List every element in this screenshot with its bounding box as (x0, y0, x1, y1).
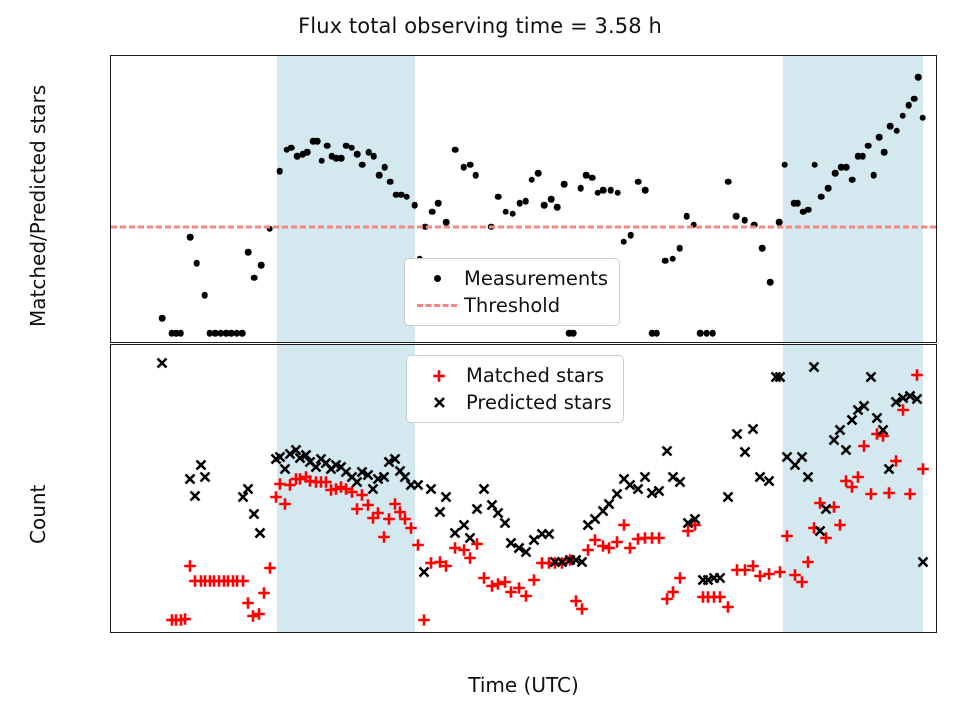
data-point-measurement (794, 200, 801, 207)
data-point-measurement (860, 153, 867, 160)
data-point-matched (903, 487, 917, 501)
data-point-matched (519, 589, 533, 603)
data-point-measurement (548, 196, 555, 203)
data-point-measurement (187, 234, 194, 241)
data-point-predicted (713, 571, 728, 586)
data-point-matched (575, 602, 589, 616)
data-point-measurement (825, 185, 832, 192)
data-point-predicted (773, 370, 788, 385)
data-point-predicted (376, 469, 391, 484)
data-point-predicted (812, 523, 827, 538)
data-point-measurement (915, 74, 922, 81)
data-point-matched (178, 612, 192, 626)
legend-marker-dashed-line (414, 304, 460, 307)
data-point-measurement (709, 330, 716, 337)
data-point-predicted (417, 565, 432, 580)
data-point-matched (773, 565, 787, 579)
data-point-matched (439, 559, 453, 573)
data-point-matched (377, 530, 391, 544)
legend-label: Predicted stars (462, 391, 612, 414)
data-point-measurement (159, 315, 166, 322)
data-point-matched (417, 613, 431, 627)
data-point-predicted (469, 502, 484, 517)
data-point-matched (404, 521, 418, 535)
data-point-predicted (745, 422, 760, 437)
data-point-measurement (554, 204, 561, 211)
legend-marker-cross (416, 395, 462, 410)
data-point-predicted (737, 445, 752, 460)
data-point-measurement (911, 95, 918, 102)
threshold-line (111, 225, 936, 228)
figure-canvas: Flux total observing time = 3.58 h 0.000… (0, 0, 960, 720)
data-point-measurement (620, 238, 627, 245)
data-point-measurement (509, 211, 516, 218)
data-point-measurement (767, 279, 774, 286)
data-point-measurement (535, 170, 542, 177)
chart-title: Flux total observing time = 3.58 h (0, 14, 960, 38)
data-point-measurement (314, 138, 321, 145)
data-point-measurement (733, 213, 740, 220)
data-point-matched (666, 585, 680, 599)
legend-label: Matched stars (462, 364, 604, 387)
legend-marker-dot (414, 275, 460, 282)
data-point-matched (263, 561, 277, 575)
data-point-measurement (781, 162, 788, 169)
legend-label: Threshold (460, 294, 560, 317)
data-point-measurement (201, 292, 208, 299)
legend-marker-plus (416, 369, 462, 383)
data-point-predicted (819, 502, 834, 517)
data-point-predicted (432, 505, 447, 520)
data-point-measurement (194, 260, 201, 267)
data-point-matched (236, 574, 250, 588)
data-point-measurement (338, 155, 345, 162)
data-point-measurement (653, 330, 660, 337)
data-point-measurement (865, 142, 872, 149)
data-point-matched (411, 538, 425, 552)
shaded-span-2 (783, 56, 922, 342)
data-point-predicted (672, 474, 687, 489)
data-point-predicted (909, 391, 924, 406)
data-point-measurement (725, 179, 732, 186)
data-point-measurement (742, 217, 749, 224)
data-point-measurement (251, 275, 258, 282)
data-point-matched (833, 518, 847, 532)
data-point-measurement (467, 162, 474, 169)
data-point-measurement (627, 232, 634, 239)
data-point-predicted (188, 489, 203, 504)
data-point-matched (183, 559, 197, 573)
data-point-measurement (376, 172, 383, 179)
data-point-predicted (247, 507, 262, 522)
data-point-predicted (182, 471, 197, 486)
data-point-predicted (463, 530, 478, 545)
data-point-predicted (720, 490, 735, 505)
data-point-predicted (730, 427, 745, 442)
data-point-measurement (676, 245, 683, 252)
data-point-measurement (473, 172, 480, 179)
data-point-measurement (670, 255, 677, 262)
count-legend: Matched starsPredicted stars (406, 355, 624, 423)
data-point-matched (851, 470, 865, 484)
data-point-measurement (600, 187, 607, 194)
legend-entry: Matched stars (416, 362, 612, 389)
data-point-measurement (614, 189, 621, 196)
data-point-matched (795, 575, 809, 589)
data-point-measurement (876, 134, 883, 141)
data-point-measurement (239, 330, 246, 337)
data-point-measurement (318, 157, 325, 164)
data-point-measurement (288, 144, 295, 151)
data-point-predicted (155, 356, 170, 371)
data-point-predicted (688, 512, 703, 527)
data-point-measurement (662, 258, 669, 265)
data-point-measurement (578, 185, 585, 192)
data-point-measurement (245, 249, 252, 256)
data-point-predicted (652, 484, 667, 499)
data-point-predicted (638, 469, 653, 484)
legend-entry: Measurements (414, 265, 608, 292)
data-point-predicted (253, 525, 268, 540)
data-point-measurement (919, 115, 926, 122)
data-point-measurement (429, 208, 436, 215)
data-point-matched (882, 486, 896, 500)
data-point-measurement (452, 147, 459, 154)
count-y-axis-label: Count (26, 485, 50, 544)
data-point-predicted (198, 469, 213, 484)
data-point-measurement (177, 330, 184, 337)
data-point-measurement (381, 164, 388, 171)
data-point-predicted (277, 461, 292, 476)
data-point-measurement (502, 208, 509, 215)
data-point-matched (278, 497, 292, 511)
data-point-measurement (832, 170, 839, 177)
ratio-y-axis-label: Matched/Predicted stars (26, 85, 50, 327)
data-point-measurement (404, 194, 411, 201)
data-point-measurement (589, 174, 596, 181)
data-point-measurement (387, 179, 394, 186)
data-point-matched (673, 571, 687, 585)
data-point-predicted (794, 449, 809, 464)
data-point-matched (721, 600, 735, 614)
data-point-measurement (495, 194, 502, 201)
data-point-measurement (642, 187, 649, 194)
data-point-predicted (800, 469, 815, 484)
data-point-matched (617, 518, 631, 532)
data-point-matched (857, 439, 871, 453)
data-point-measurement (460, 164, 467, 171)
data-point-measurement (411, 202, 418, 209)
data-point-matched (527, 573, 541, 587)
data-point-measurement (843, 164, 850, 171)
ratio-legend: MeasurementsThreshold (404, 258, 620, 326)
data-point-predicted (806, 360, 821, 375)
data-point-measurement (881, 149, 888, 156)
data-point-matched (916, 462, 930, 476)
data-point-predicted (423, 481, 438, 496)
data-point-matched (252, 607, 266, 621)
data-point-predicted (241, 481, 256, 496)
data-point-measurement (435, 200, 442, 207)
legend-label: Measurements (460, 267, 608, 290)
data-point-measurement (258, 262, 265, 269)
data-point-matched (780, 529, 794, 543)
data-point-matched (257, 586, 271, 600)
data-point-measurement (541, 202, 548, 209)
data-point-measurement (607, 187, 614, 194)
data-point-predicted (541, 526, 556, 541)
data-point-measurement (522, 198, 529, 205)
data-point-measurement (371, 153, 378, 160)
data-point-predicted (574, 555, 589, 570)
data-point-predicted (497, 516, 512, 531)
data-point-matched (652, 531, 666, 545)
data-point-measurement (348, 144, 355, 151)
data-point-predicted (659, 444, 674, 459)
data-point-predicted (875, 423, 890, 438)
data-point-measurement (893, 127, 900, 134)
legend-entry: Threshold (414, 292, 608, 319)
data-point-predicted (839, 443, 854, 458)
data-point-predicted (477, 481, 492, 496)
data-point-measurement (818, 194, 825, 201)
data-point-measurement (561, 181, 568, 188)
x-axis-label: Time (UTC) (110, 673, 937, 697)
data-point-matched (801, 555, 815, 569)
data-point-matched (463, 551, 477, 565)
data-point-measurement (528, 176, 535, 183)
data-point-matched (910, 368, 924, 382)
data-point-matched (610, 535, 624, 549)
data-point-predicted (881, 461, 896, 476)
shaded-span-1 (277, 56, 415, 342)
data-point-measurement (759, 245, 766, 252)
data-point-measurement (805, 206, 812, 213)
data-point-measurement (683, 213, 690, 220)
data-point-matched (864, 487, 878, 501)
data-point-measurement (570, 330, 577, 337)
data-point-measurement (354, 151, 361, 158)
data-point-measurement (849, 176, 856, 183)
data-point-measurement (635, 179, 642, 186)
data-point-measurement (870, 172, 877, 179)
data-point-measurement (276, 168, 283, 175)
data-point-predicted (863, 370, 878, 385)
data-point-measurement (906, 102, 913, 109)
data-point-measurement (811, 162, 818, 169)
data-point-measurement (324, 142, 331, 149)
data-point-measurement (899, 112, 906, 119)
legend-entry: Predicted stars (416, 389, 612, 416)
data-point-measurement (359, 162, 366, 169)
data-point-measurement (304, 149, 311, 156)
data-point-predicted (438, 490, 453, 505)
data-point-predicted (762, 473, 777, 488)
data-point-predicted (915, 555, 930, 570)
